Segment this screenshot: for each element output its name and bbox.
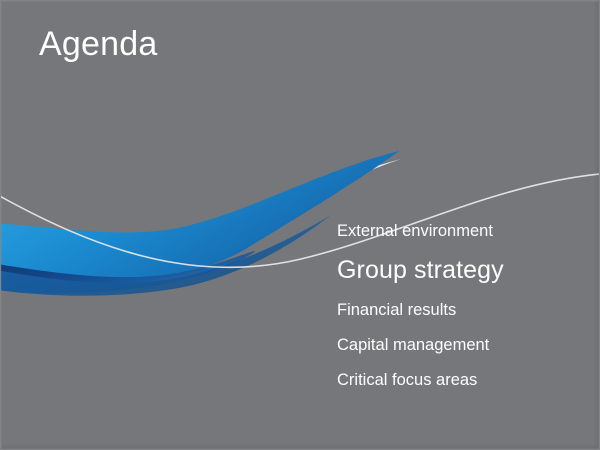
agenda-item-capital-management[interactable]: Capital management bbox=[337, 337, 587, 372]
agenda-item-group-strategy[interactable]: Group strategy bbox=[337, 258, 587, 302]
page-title: Agenda bbox=[39, 25, 157, 64]
agenda-item-label: External environment bbox=[337, 223, 493, 240]
agenda-list: External environment Group strategy Fina… bbox=[337, 223, 587, 407]
agenda-item-critical-focus-areas[interactable]: Critical focus areas bbox=[337, 372, 587, 407]
agenda-item-label: Financial results bbox=[337, 302, 456, 319]
agenda-item-external-environment[interactable]: External environment bbox=[337, 223, 587, 258]
presentation-slide: Agenda External environment Group strate… bbox=[0, 0, 600, 450]
agenda-item-label: Capital management bbox=[337, 337, 489, 354]
agenda-item-label: Group strategy bbox=[337, 258, 504, 283]
agenda-item-financial-results[interactable]: Financial results bbox=[337, 302, 587, 337]
agenda-item-label: Critical focus areas bbox=[337, 372, 477, 389]
